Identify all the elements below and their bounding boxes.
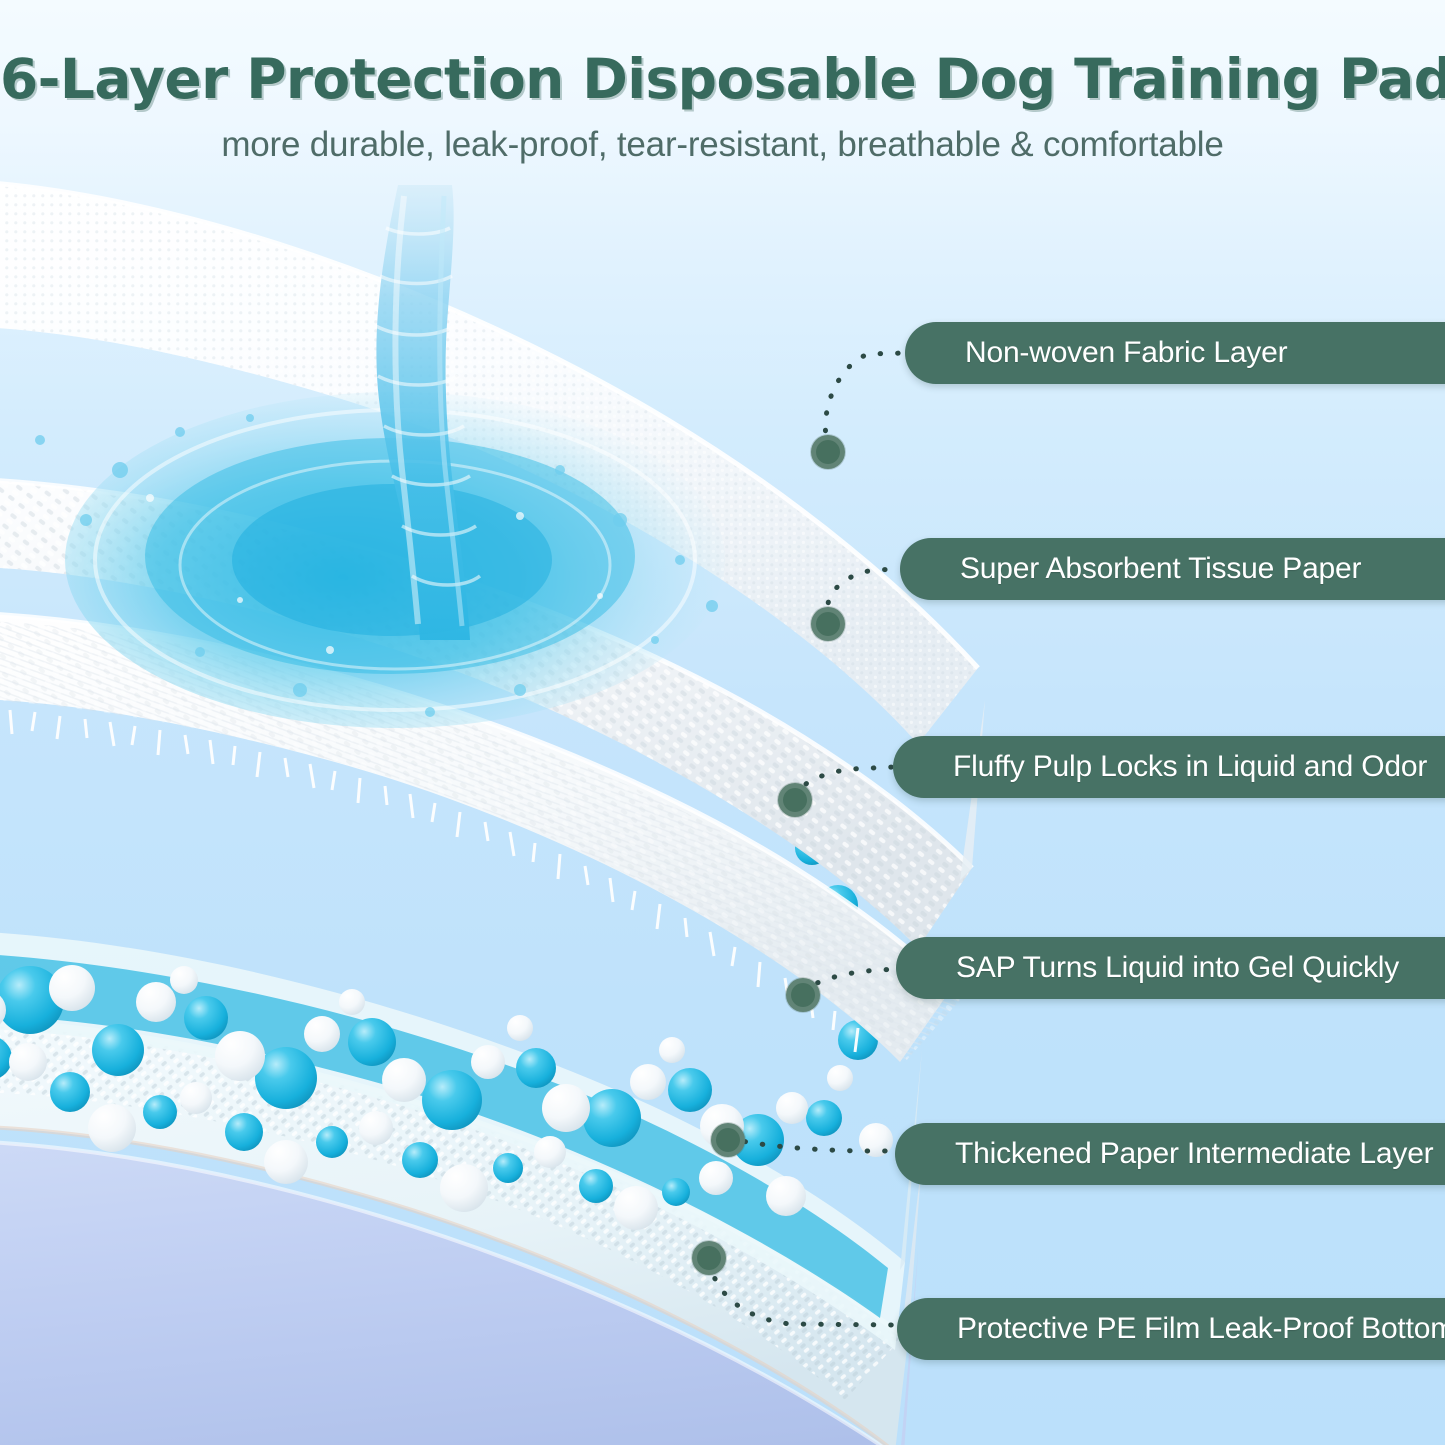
layer-marker-1-icon[interactable]	[811, 435, 845, 469]
layer-marker-5-icon[interactable]	[711, 1123, 745, 1157]
infographic-canvas: 6-Layer Protection Disposable Dog Traini…	[0, 0, 1445, 1445]
layer-marker-6-icon[interactable]	[692, 1241, 726, 1275]
layer-label-pe-film[interactable]: Protective PE Film Leak-Proof Bottom	[897, 1298, 1445, 1360]
layer-marker-3-icon[interactable]	[778, 783, 812, 817]
layer-label-fluffy-pulp[interactable]: Fluffy Pulp Locks in Liquid and Odor	[893, 736, 1445, 798]
layer-marker-2-icon[interactable]	[811, 607, 845, 641]
layer-label-sap-gel[interactable]: SAP Turns Liquid into Gel Quickly	[896, 937, 1445, 999]
layer-label-non-woven-fabric[interactable]: Non-woven Fabric Layer	[905, 322, 1445, 384]
layer-label-thickened-paper[interactable]: Thickened Paper Intermediate Layer	[895, 1123, 1445, 1185]
callout-group: Non-woven Fabric Layer Super Absorbent T…	[0, 0, 1445, 1445]
layer-marker-4-icon[interactable]	[786, 978, 820, 1012]
layer-label-super-absorbent-tissue-paper[interactable]: Super Absorbent Tissue Paper	[900, 538, 1445, 600]
